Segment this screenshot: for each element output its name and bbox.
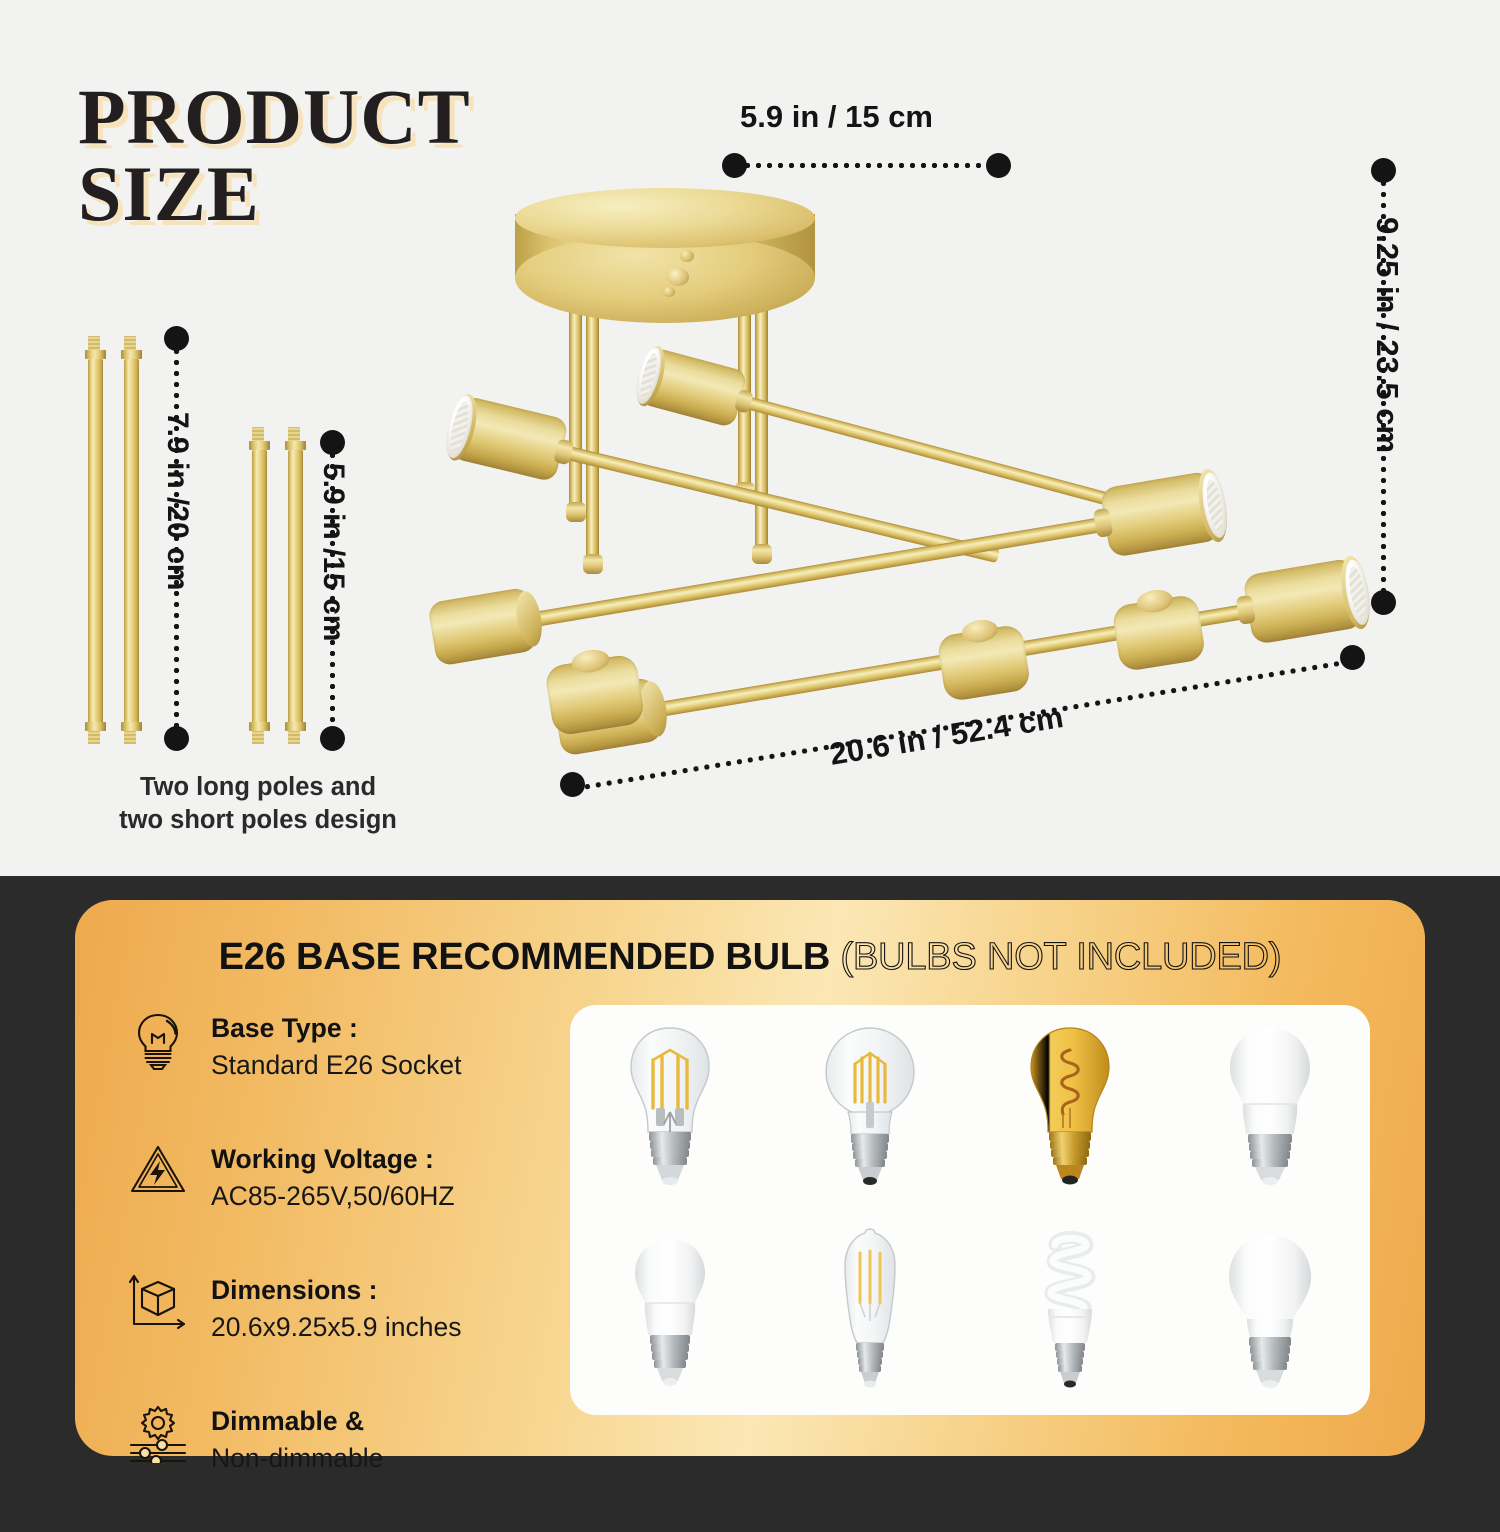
spec-row-dimensions: Dimensions : 20.6x9.25x5.9 inches [127, 1270, 597, 1360]
bulb-cell [770, 1210, 970, 1415]
e26-socket-8 [1110, 584, 1207, 673]
spec-row-working-voltage: Working Voltage : AC85-265V,50/60HZ [127, 1139, 597, 1229]
dimmer-settings-icon [127, 1401, 189, 1463]
spec-label: Base Type : [211, 1010, 461, 1047]
ceiling-canopy [515, 188, 815, 313]
bulb-cell [1170, 1005, 1370, 1210]
spec-row-base-type: Base Type : Standard E26 Socket [127, 1008, 597, 1098]
spec-list: Base Type : Standard E26 Socket Working … [127, 1008, 597, 1532]
bulb-cell [970, 1210, 1170, 1415]
bulb-cell [570, 1005, 770, 1210]
spec-value: 20.6x9.25x5.9 inches [211, 1309, 461, 1346]
e26-socket-7 [935, 614, 1032, 703]
spec-value: Non-dimmable [211, 1440, 383, 1477]
spec-value: AC85-265V,50/60HZ [211, 1178, 455, 1215]
e26-socket-9 [542, 643, 645, 736]
product-size-section: PRODUCT SIZE [0, 0, 1500, 876]
gold-panel: E26 BASE RECOMMENDED BULB (BULBS NOT INC… [75, 900, 1425, 1456]
panel-header: E26 BASE RECOMMENDED BULB (BULBS NOT INC… [75, 936, 1425, 979]
bulb-card [570, 1005, 1370, 1415]
spec-label: Dimmable & [211, 1403, 383, 1440]
spec-value: Standard E26 Socket [211, 1047, 461, 1084]
bulb-recommendation-section: E26 BASE RECOMMENDED BULB (BULBS NOT INC… [0, 876, 1500, 1500]
panel-header-sub: (BULBS NOT INCLUDED) [841, 936, 1282, 978]
dimensions-box-icon [127, 1270, 189, 1330]
bulb-cell [770, 1005, 970, 1210]
spec-label: Dimensions : [211, 1272, 461, 1309]
panel-header-main: E26 BASE RECOMMENDED BULB [219, 936, 841, 978]
bulb-grid [570, 1005, 1370, 1415]
voltage-warning-icon [127, 1139, 189, 1197]
bulb-cell [970, 1005, 1170, 1210]
chandelier-illustration [380, 150, 1380, 790]
bulb-icon [127, 1008, 189, 1070]
spec-row-dimmable: Dimmable & Non-dimmable [127, 1401, 597, 1491]
bulb-cell [570, 1210, 770, 1415]
bulb-cell [1170, 1210, 1370, 1415]
spec-label: Working Voltage : [211, 1141, 455, 1178]
